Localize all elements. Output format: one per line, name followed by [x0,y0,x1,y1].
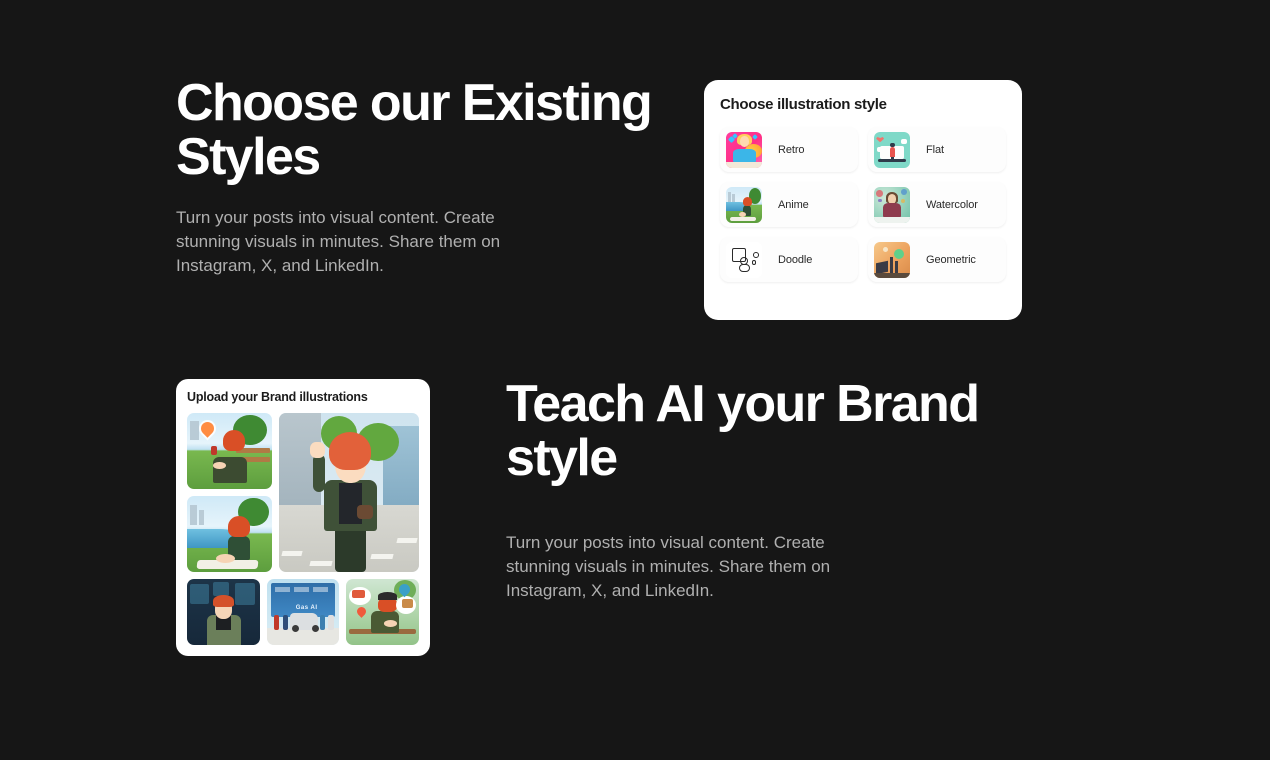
teach-ai-text-block: Teach AI your Brand style Turn your post… [506,377,1026,604]
doodle-illustration-thumb [726,242,762,278]
watercolor-illustration-thumb [874,187,910,223]
upload-bottom-row: Gas AI [187,579,419,645]
page-root: Choose our Existing Styles Turn your pos… [0,0,1270,760]
style-option-label: Anime [778,199,809,211]
style-option-flat[interactable]: Flat [868,127,1006,172]
style-option-label: Watercolor [926,199,978,211]
style-option-watercolor[interactable]: Watercolor [868,182,1006,227]
dealership-vehicle-thumb[interactable]: Gas AI [267,579,340,645]
lakeside-sitting-thumb[interactable] [187,496,272,572]
section-one-body: Turn your posts into visual content. Cre… [176,206,556,278]
anime-illustration-thumb [726,187,762,223]
style-option-retro[interactable]: Retro [720,127,858,172]
dealership-sign-text: Gas AI [296,605,318,611]
upload-card-title: Upload your Brand illustrations [187,390,419,404]
section-one-heading: Choose our Existing Styles [176,76,676,184]
style-option-anime[interactable]: Anime [720,182,858,227]
bench-delivery-icons-thumb[interactable] [346,579,419,645]
section-two-heading: Teach AI your Brand style [506,377,1026,485]
style-option-label: Flat [926,144,944,156]
park-bench-phone-thumb[interactable] [187,413,272,489]
data-screens-portrait-thumb[interactable] [187,579,260,645]
choose-illustration-style-card: Choose illustration style Retro [704,80,1022,320]
style-option-label: Retro [778,144,804,156]
style-options-grid: Retro Flat [720,127,1006,282]
flat-illustration-thumb [874,132,910,168]
style-option-geometric[interactable]: Geometric [868,237,1006,282]
style-card-title: Choose illustration style [720,96,1006,113]
retro-illustration-thumb [726,132,762,168]
section-two-body: Turn your posts into visual content. Cre… [506,531,886,603]
geometric-illustration-thumb [874,242,910,278]
style-option-doodle[interactable]: Doodle [720,237,858,282]
existing-styles-text-block: Choose our Existing Styles Turn your pos… [176,76,676,279]
upload-brand-illustrations-card: Upload your Brand illustrations [176,379,430,656]
upload-image-grid [187,413,419,572]
style-option-label: Doodle [778,254,812,266]
style-option-label: Geometric [926,254,976,266]
upload-left-column [187,413,272,572]
street-waving-character-featured[interactable] [279,413,419,572]
